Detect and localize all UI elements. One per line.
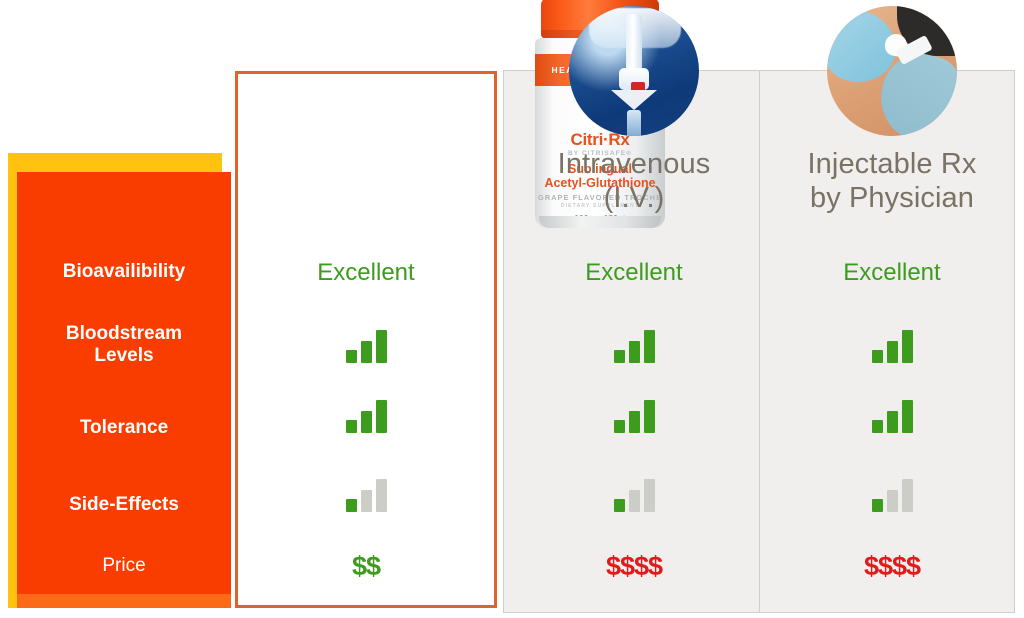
cell-bioavailibility-product: Excellent	[240, 259, 492, 287]
column-intravenous: Intravenous (I.V.)	[508, 0, 760, 215]
cell-tolerance-injectable	[766, 399, 1018, 438]
row-label-side-effects: Side-Effects	[17, 494, 231, 516]
rating-bars-high	[346, 329, 387, 363]
column-injectable: Injectable Rx by Physician	[766, 0, 1018, 215]
cell-price-injectable: $$$$	[766, 551, 1018, 582]
column-title-intravenous: Intravenous (I.V.)	[508, 148, 760, 215]
column-title-injectable: Injectable Rx by Physician	[766, 148, 1018, 215]
iv-title-line1: Intravenous	[508, 148, 760, 182]
cell-tolerance-product	[240, 399, 492, 438]
iv-drip-photo	[569, 6, 699, 136]
rating-bars-high	[614, 399, 655, 433]
row-label-price: Price	[17, 555, 231, 577]
row-label-bloodstream-line2: Levels	[17, 345, 231, 367]
cell-bloodstream-product	[240, 329, 492, 368]
cell-side-effects-injectable	[766, 478, 1018, 517]
inj-title-line2: by Physician	[766, 182, 1018, 216]
cell-bioavailibility-iv: Excellent	[508, 259, 760, 287]
row-label-bloodstream: Bloodstream Levels	[17, 323, 231, 367]
cell-bloodstream-iv	[508, 329, 760, 368]
row-label-bloodstream-line1: Bloodstream	[17, 323, 231, 345]
rating-bars-high	[346, 399, 387, 433]
cell-tolerance-iv	[508, 399, 760, 438]
inj-title-line1: Injectable Rx	[766, 148, 1018, 182]
cell-price-product: $$	[240, 551, 492, 582]
label-panel	[17, 172, 231, 602]
cell-price-iv: $$$$	[508, 551, 760, 582]
iv-title-line2: (I.V.)	[508, 182, 760, 216]
cell-bloodstream-injectable	[766, 329, 1018, 368]
label-panel-foot	[17, 594, 231, 608]
cell-side-effects-product	[240, 478, 492, 517]
rating-bars-low	[346, 478, 387, 512]
rating-bars-high	[614, 329, 655, 363]
row-label-tolerance: Tolerance	[17, 417, 231, 439]
rating-bars-high	[872, 329, 913, 363]
injection-photo	[827, 6, 957, 136]
comparison-chart: HEALTH SUPPORT Citri·Rx BY CITRISAFE® Su…	[0, 0, 1024, 618]
cell-bioavailibility-injectable: Excellent	[766, 259, 1018, 287]
rating-bars-high	[872, 399, 913, 433]
rating-bars-low	[614, 478, 655, 512]
cell-side-effects-iv	[508, 478, 760, 517]
bottle-base	[539, 216, 661, 228]
row-label-bioavailibility: Bioavailibility	[17, 261, 231, 283]
rating-bars-low	[872, 478, 913, 512]
